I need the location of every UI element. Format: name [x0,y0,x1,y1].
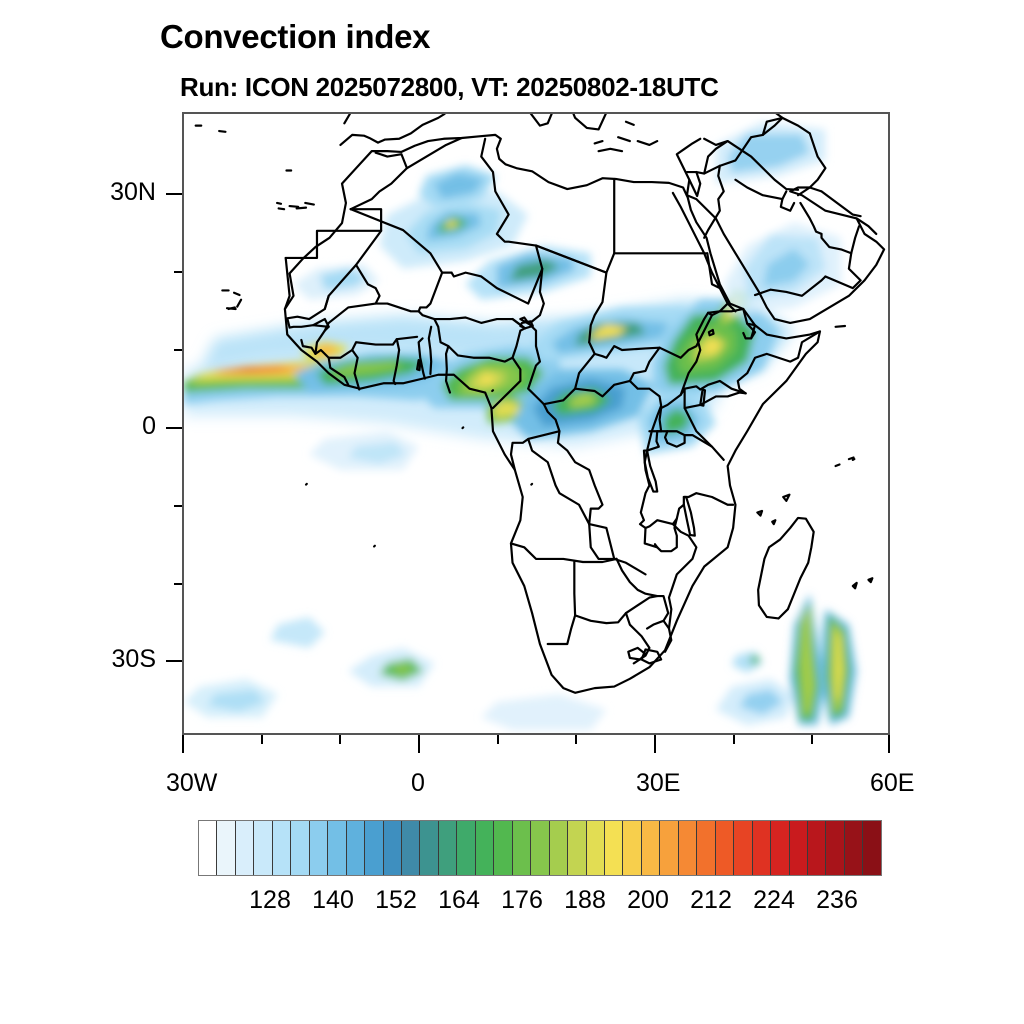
colorbar-cell-15 [476,821,494,875]
x-tick-20W [261,735,263,744]
y-axis-label-0: 0 [60,412,156,441]
x-tick-30W [182,735,184,753]
y-tick-20N [174,271,182,273]
colorbar-cell-8 [347,821,365,875]
colorbar-cell-3 [254,821,272,875]
x-axis-label-60E: 60E [870,769,914,798]
colorbar-cell-21 [587,821,605,875]
colorbar-cell-19 [550,821,568,875]
colorbar-label-152: 152 [375,886,417,915]
colorbar-label-212: 212 [690,886,732,915]
colorbar-label-164: 164 [438,886,480,915]
colorbar-cell-20 [568,821,586,875]
x-axis-label-30W: 30W [166,769,217,798]
colorbar-cell-33 [808,821,826,875]
colorbar-label-236: 236 [816,886,858,915]
colorbar-cell-26 [679,821,697,875]
colorbar-cell-4 [273,821,291,875]
y-tick-10N [174,349,182,351]
colorbar-cell-5 [291,821,309,875]
colorbar-cell-13 [439,821,457,875]
colorbar-cell-18 [531,821,549,875]
colorbar-cell-17 [513,821,531,875]
colorbar-label-140: 140 [312,886,354,915]
x-tick-30E [654,735,656,753]
colorbar-cell-36 [863,821,880,875]
y-tick-0 [166,427,182,429]
colorbar-cell-10 [384,821,402,875]
y-axis-label-30N: 30N [60,178,156,207]
colorbar-label-188: 188 [564,886,606,915]
colorbar-label-176: 176 [501,886,543,915]
colorbar-cell-30 [753,821,771,875]
x-tick-50E [811,735,813,744]
y-tick-30N [166,193,182,195]
colorbar-cell-32 [790,821,808,875]
x-tick-10W [339,735,341,744]
x-tick-60E [888,735,890,753]
colorbar-cell-23 [623,821,641,875]
x-tick-10E [497,735,499,744]
colorbar-cell-28 [716,821,734,875]
x-tick-40E [733,735,735,744]
map-canvas [184,114,888,733]
colorbar-cell-22 [605,821,623,875]
colorbar-cell-31 [771,821,789,875]
page-title: Convection index [160,18,430,56]
convection-field [184,122,857,730]
map-plot-area [182,112,890,735]
colorbar-cell-25 [660,821,678,875]
colorbar-cell-35 [845,821,863,875]
colorbar-cell-12 [420,821,438,875]
colorbar-cell-6 [310,821,328,875]
colorbar-cell-29 [734,821,752,875]
x-axis-label-30E: 30E [636,769,680,798]
x-tick-20E [575,735,577,744]
colorbar-cell-14 [457,821,475,875]
colorbar-cell-27 [697,821,715,875]
y-tick-20S [174,583,182,585]
colorbar-cell-34 [826,821,844,875]
colorbar-cell-1 [217,821,235,875]
y-tick-10S [174,505,182,507]
y-axis-label-30S: 30S [60,645,156,674]
colorbar-cell-2 [236,821,254,875]
colorbar-cell-24 [642,821,660,875]
colorbar-label-200: 200 [627,886,669,915]
convection-index-figure: Convection index Run: ICON 2025072800, V… [0,0,1024,1024]
colorbar [198,820,882,876]
colorbar-cell-7 [328,821,346,875]
x-tick-0 [418,735,420,753]
colorbar-cell-9 [365,821,383,875]
run-valid-time-subtitle: Run: ICON 2025072800, VT: 20250802-18UTC [180,72,719,103]
colorbar-cell-16 [494,821,512,875]
y-tick-30S [166,660,182,662]
colorbar-cell-11 [402,821,420,875]
colorbar-cell-0 [199,821,217,875]
colorbar-label-128: 128 [249,886,291,915]
colorbar-label-224: 224 [753,886,795,915]
x-axis-label-0: 0 [411,769,425,798]
